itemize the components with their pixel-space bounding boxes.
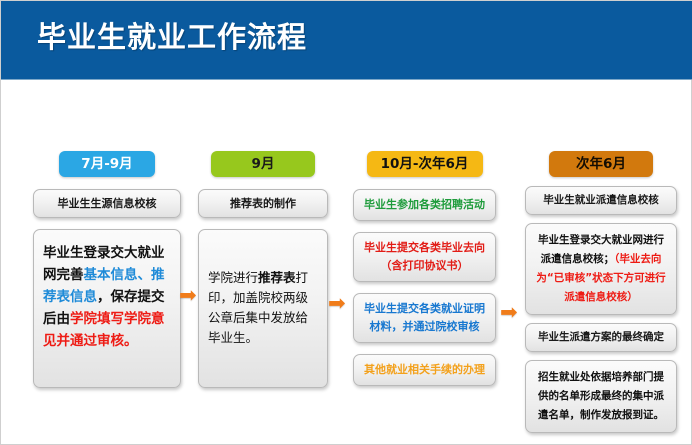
period-badge-2: 9月 bbox=[211, 151, 315, 177]
stage-card-3c[interactable]: 毕业生提交各类就业证明材料，并通过院校审核 bbox=[353, 293, 496, 343]
page-title: 毕业生就业工作流程 bbox=[37, 17, 307, 57]
arrow-right-icon: ➡ bbox=[179, 285, 197, 306]
segment-red: 核。 bbox=[111, 333, 138, 349]
stage-card-1[interactable]: 毕业生生源信息校核 bbox=[33, 189, 181, 218]
period-badge-1: 7月-9月 bbox=[59, 151, 155, 177]
detail-card-1[interactable]: 毕业生登录交大就业网完善基本信息、推荐表信息，保存提交后由学院填写学院意见并通过… bbox=[33, 229, 181, 388]
stage-title-1: 毕业生生源信息校核 bbox=[34, 190, 180, 217]
stage-card-3b[interactable]: 毕业生提交各类毕业去向（含打印协议书） bbox=[353, 232, 496, 282]
stage-title-3b: 毕业生提交各类毕业去向（含打印协议书） bbox=[354, 233, 495, 281]
stage-title-3a: 毕业生参加各类招聘活动 bbox=[354, 190, 495, 220]
period-badge-3: 10月-次年6月 bbox=[367, 151, 483, 177]
stage-card-2[interactable]: 推荐表的制作 bbox=[198, 189, 328, 218]
stage-title-3d: 其他就业相关手续的办理 bbox=[354, 355, 495, 385]
flow-diagram: 7月-9月 毕业生生源信息校核 毕业生登录交大就业网完善基本信息、推荐表信息，保… bbox=[1, 80, 692, 445]
arrow-right-icon: ➡ bbox=[500, 302, 518, 323]
segment-bold: 推荐表 bbox=[258, 270, 296, 285]
header-banner: 毕业生就业工作流程 bbox=[1, 1, 692, 80]
detail-card-4a[interactable]: 毕业生登录交大就业网进行派遣信息校核；（毕业去向为“已审核”状态下方可进行派遣信… bbox=[525, 223, 677, 315]
stage-title-3c: 毕业生提交各类就业证明材料，并通过院校审核 bbox=[354, 294, 495, 342]
stage-card-3a[interactable]: 毕业生参加各类招聘活动 bbox=[353, 189, 496, 221]
detail-card-2[interactable]: 学院进行推荐表打印，加盖院校两级公章后集中发放给毕业生。 bbox=[198, 229, 328, 388]
stage-card-3d[interactable]: 其他就业相关手续的办理 bbox=[353, 354, 496, 386]
arrow-right-icon: ➡ bbox=[328, 293, 346, 314]
segment-red: 学院填写 bbox=[70, 311, 124, 327]
stage-title-4a: 毕业生就业派遣信息校核 bbox=[526, 187, 676, 214]
detail-card-4b[interactable]: 招生就业处依据培养部门提供的名单形成最终的集中派遣名单，制作发放报到证。 bbox=[525, 360, 677, 433]
detail-text-4b: 招生就业处依据培养部门提供的名单形成最终的集中派遣名单，制作发放报到证。 bbox=[526, 361, 676, 432]
segment: 招生就业处依据培养部门提供的名单形成最终的集中派遣名单，制作发放报到证。 bbox=[538, 371, 664, 421]
stage-card-4b[interactable]: 毕业生派遣方案的最终确定 bbox=[525, 323, 677, 352]
slide-canvas: 毕业生就业工作流程 7月-9月 毕业生生源信息校核 毕业生登录交大就业网完善基本… bbox=[0, 0, 692, 445]
flow-column-2: 9月 推荐表的制作 学院进行推荐表打印，加盖院校两级公章后集中发放给毕业生。 bbox=[198, 80, 328, 388]
flow-column-1: 7月-9月 毕业生生源信息校核 毕业生登录交大就业网完善基本信息、推荐表信息，保… bbox=[33, 80, 181, 388]
flow-column-3: 10月-次年6月 毕业生参加各类招聘活动 毕业生提交各类毕业去向（含打印协议书）… bbox=[353, 80, 496, 386]
detail-text-2: 学院进行推荐表打印，加盖院校两级公章后集中发放给毕业生。 bbox=[199, 230, 327, 358]
detail-text-4a: 毕业生登录交大就业网进行派遣信息校核；（毕业去向为“已审核”状态下方可进行派遣信… bbox=[526, 224, 676, 314]
detail-text-1: 毕业生登录交大就业网完善基本信息、推荐表信息，保存提交后由学院填写学院意见并通过… bbox=[34, 230, 180, 362]
period-badge-4: 次年6月 bbox=[549, 151, 653, 177]
segment: 学院进行 bbox=[208, 270, 258, 285]
stage-title-4b: 毕业生派遣方案的最终确定 bbox=[526, 324, 676, 351]
segment-blue: 基本信息、 bbox=[84, 267, 152, 283]
stage-card-4a[interactable]: 毕业生就业派遣信息校核 bbox=[525, 186, 677, 215]
segment: 毕业生登录交大就 bbox=[43, 245, 151, 261]
stage-title-2: 推荐表的制作 bbox=[199, 190, 327, 217]
segment: ，保存 bbox=[97, 289, 138, 305]
flow-column-4: 次年6月 毕业生就业派遣信息校核 毕业生登录交大就业网进行派遣信息校核；（毕业去… bbox=[525, 80, 677, 433]
